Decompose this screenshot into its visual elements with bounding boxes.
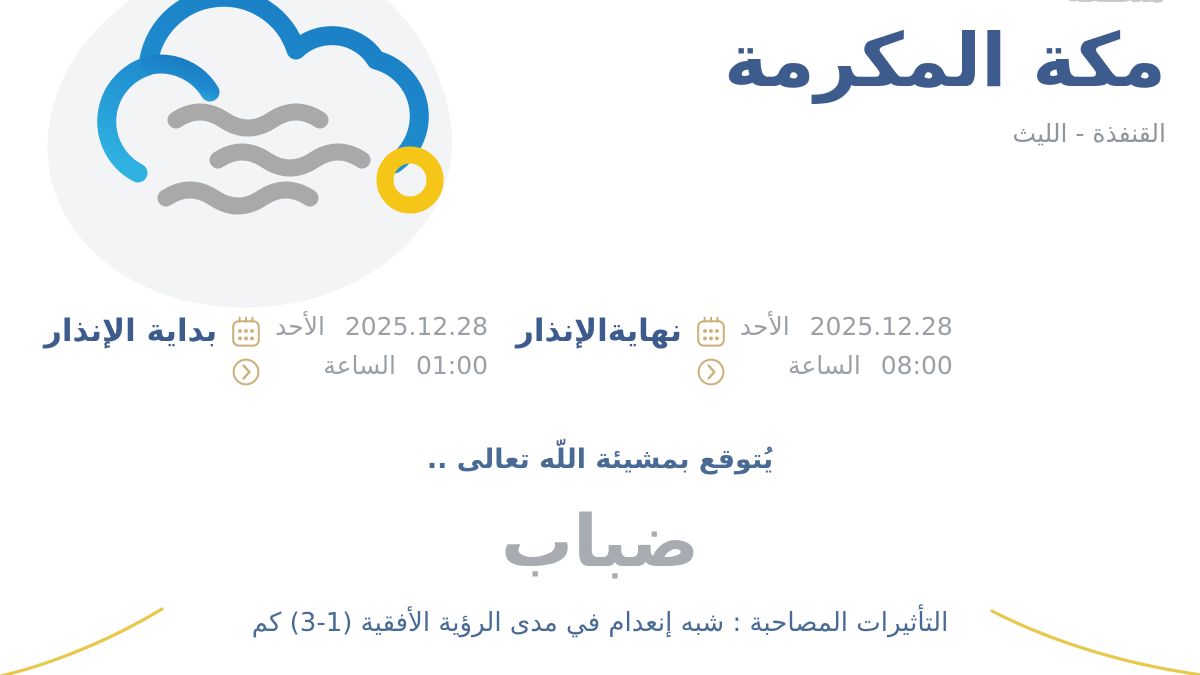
alert-end-label: نهايةالإنذار (516, 312, 682, 351)
region-kicker: منطقة (526, 0, 1166, 8)
region-subtitle: القنفذة - الليث (526, 119, 1166, 148)
alert-start-label: بداية الإنذار (44, 312, 217, 351)
alert-end-date: 2025.12.28 (810, 312, 953, 341)
alert-start-icons (231, 312, 261, 387)
fog-lines (166, 112, 362, 206)
page-title: مكة المكرمة (526, 18, 1166, 105)
alert-start-day: الأحد (275, 312, 325, 341)
alert-start-values: 2025.12.28 الأحد 01:00 الساعة (275, 312, 488, 380)
alert-start-date: 2025.12.28 (345, 312, 488, 341)
forecast-expect-line: يُتوقع بمشيئة اللّه تعالى .. (0, 444, 1200, 475)
fog-cloud-sun-icon (58, 0, 478, 278)
calendar-icon (696, 316, 726, 348)
weather-alert-card: منطقة مكة المكرمة القنفذة - الليث 2025.1… (0, 0, 1200, 675)
alert-start-date-line: 2025.12.28 الأحد (275, 312, 488, 342)
alert-end-time-line: 08:00 الساعة (740, 351, 953, 381)
header: منطقة مكة المكرمة القنفذة - الليث (526, 0, 1166, 148)
alert-end-values: 2025.12.28 الأحد 08:00 الساعة (740, 312, 953, 380)
calendar-icon (231, 316, 261, 348)
alert-end-day: الأحد (740, 312, 790, 341)
alert-window-end: 2025.12.28 الأحد 08:00 الساعة (510, 312, 1090, 387)
alert-end-time: 08:00 (881, 351, 953, 380)
alert-start-time-label: الساعة (323, 351, 396, 380)
alert-windows: 2025.12.28 الأحد 08:00 الساعة (0, 312, 1200, 387)
weather-condition: ضباب (0, 498, 1200, 584)
alert-start-time: 01:00 (416, 351, 488, 380)
alert-start-time-line: 01:00 الساعة (275, 351, 488, 381)
clock-icon (696, 357, 726, 387)
alert-end-icons (696, 312, 726, 387)
alert-end-date-line: 2025.12.28 الأحد (740, 312, 953, 342)
sun-ring-icon (385, 155, 435, 205)
clock-icon (231, 357, 261, 387)
alert-end-time-label: الساعة (788, 351, 861, 380)
associated-impacts: التأثيرات المصاحبة : شبه إنعدام في مدى ا… (0, 608, 1200, 638)
alert-window-start: 2025.12.28 الأحد 01:00 الساعة (110, 312, 510, 387)
